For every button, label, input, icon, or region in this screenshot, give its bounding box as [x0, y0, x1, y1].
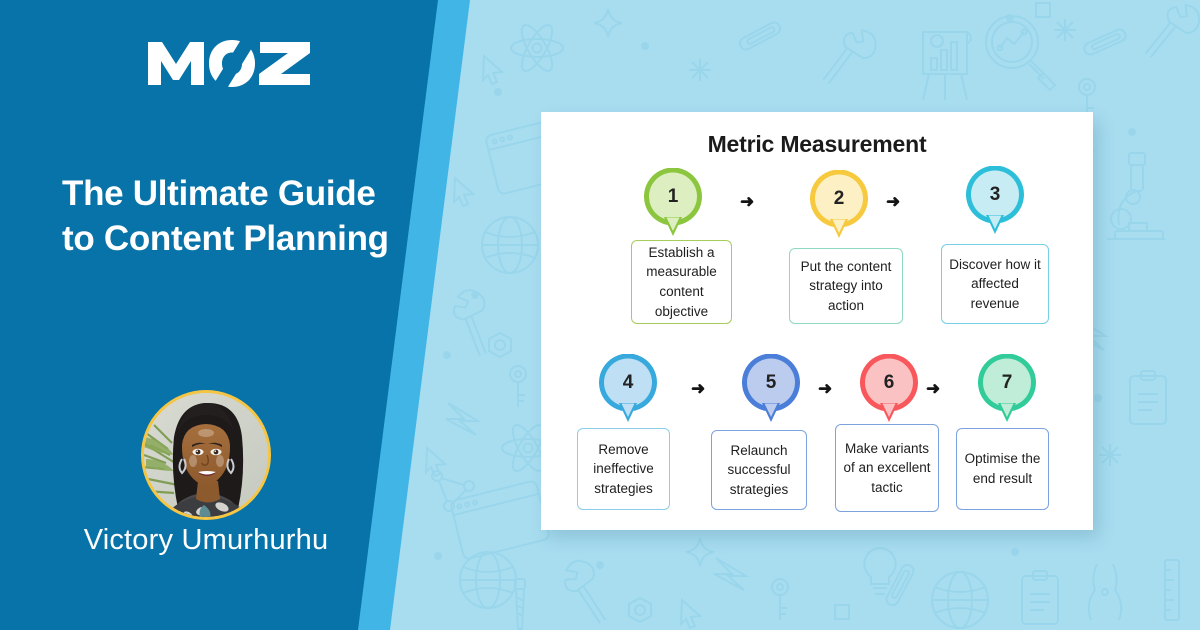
arrow-6-to-7: ➜	[926, 380, 940, 397]
step-3-text: Discover how it affected revenue	[948, 255, 1042, 314]
step-5-text: Relaunch successful strategies	[718, 441, 800, 500]
step-7-box: Optimise the end result	[956, 428, 1049, 510]
step-2-number: 2	[810, 170, 868, 227]
moz-logo[interactable]	[146, 30, 312, 88]
step-4-pin: 4	[599, 354, 657, 424]
step-3-box: Discover how it affected revenue	[941, 244, 1049, 324]
avatar	[141, 390, 271, 520]
step-2-box: Put the content strategy into action	[789, 248, 903, 324]
step-7-pin: 7	[978, 354, 1036, 424]
arrow-5-to-6: ➜	[818, 380, 832, 397]
arrow-1-to-2: ➜	[740, 193, 754, 210]
step-7-number: 7	[978, 354, 1036, 411]
moz-logo-mark	[146, 30, 312, 88]
step-6-pin: 6	[860, 354, 918, 424]
step-2-text: Put the content strategy into action	[796, 257, 896, 316]
step-1-number: 1	[644, 168, 702, 225]
diagram-row-bottom: 4 Remove ineffective strategies ➜ 5	[541, 354, 1093, 524]
step-1-pin: 1	[644, 168, 702, 238]
step-2-pin: 2	[810, 170, 868, 240]
step-3-pin: 3	[966, 166, 1024, 236]
left-panel: The Ultimate Guide to Content Planning	[0, 0, 440, 630]
step-4-number: 4	[599, 354, 657, 411]
step-6-text: Make variants of an excellent tactic	[842, 439, 932, 498]
author-portrait	[144, 393, 268, 517]
step-1-text: Establish a measurable content objective	[638, 243, 725, 321]
page-title: The Ultimate Guide to Content Planning	[62, 172, 402, 262]
step-6-number: 6	[860, 354, 918, 411]
step-5-pin: 5	[742, 354, 800, 424]
step-4-box: Remove ineffective strategies	[577, 428, 670, 510]
step-7-text: Optimise the end result	[963, 449, 1042, 488]
diagram-card: Metric Measurement 1 Establish a measura…	[541, 112, 1093, 530]
step-3-number: 3	[966, 166, 1024, 223]
arrow-2-to-3: ➜	[886, 193, 900, 210]
author-name: Victory Umurhurhu	[0, 524, 412, 557]
step-5-number: 5	[742, 354, 800, 411]
diagram-row-top: 1 Establish a measurable content objecti…	[541, 168, 1093, 338]
step-5-box: Relaunch successful strategies	[711, 430, 807, 510]
step-1-box: Establish a measurable content objective	[631, 240, 732, 324]
social-card-canvas: The Ultimate Guide to Content Planning	[0, 0, 1200, 630]
step-6-box: Make variants of an excellent tactic	[835, 424, 939, 512]
arrow-4-to-5: ➜	[691, 380, 705, 397]
diagram-title: Metric Measurement	[541, 131, 1093, 158]
step-4-text: Remove ineffective strategies	[584, 440, 663, 499]
